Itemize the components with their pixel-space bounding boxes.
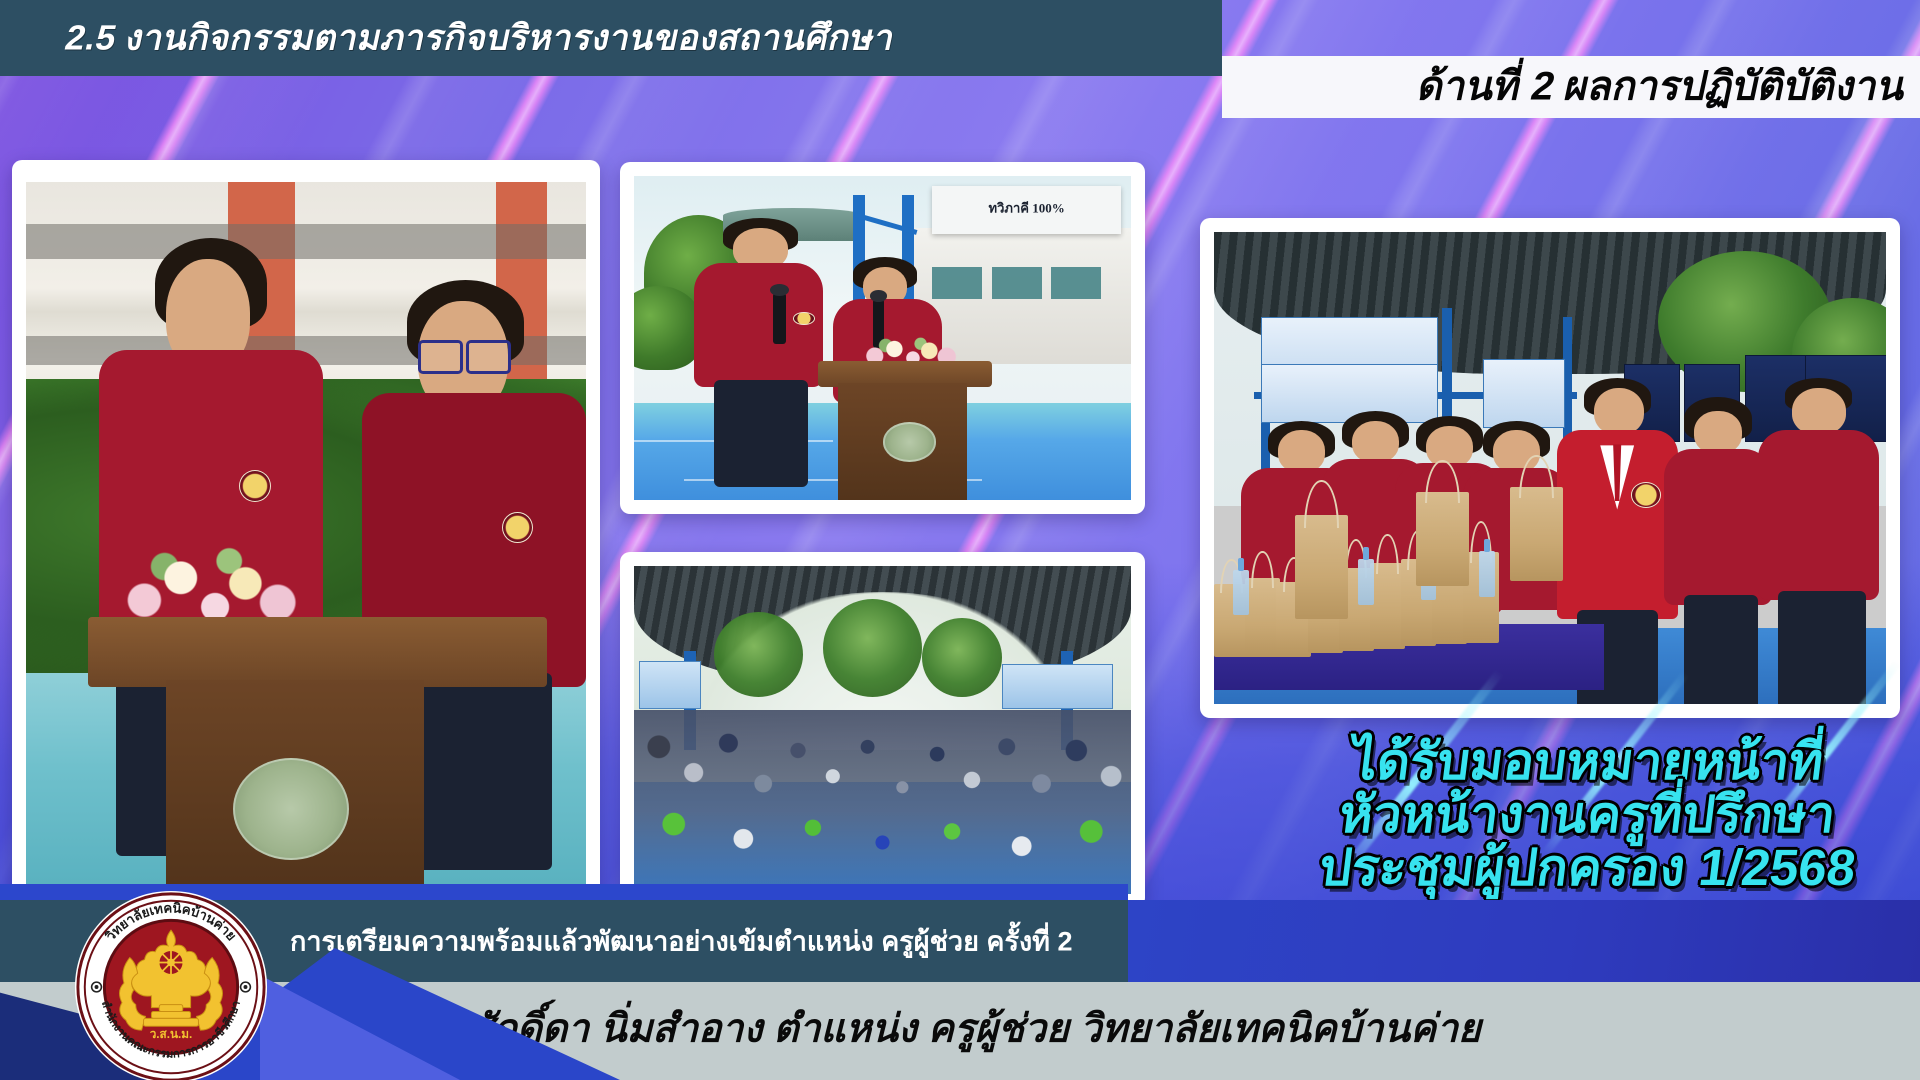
photo-mid-top-image: ทวิภาคี 100% <box>634 176 1131 500</box>
caption-line-2: หัวหน้างานครูที่ปรึกษา <box>1252 788 1920 841</box>
caption-line-3: ประชุมผู้ปกครอง 1/2568 <box>1252 841 1920 894</box>
photo-card-right[interactable] <box>1200 218 1900 718</box>
header-right-bar: ด้านที่ 2 ผลการปฏิบัติบัติงาน <box>1222 56 1920 118</box>
photo-card-mid-top[interactable]: ทวิภาคี 100% <box>620 162 1145 514</box>
header-left-bar: 2.5 งานกิจกรรมตามภารกิจบริหารงานของสถานศ… <box>0 0 1222 76</box>
ribbon-caption: การเตรียมความพร้อมแล้วพัฒนาอย่างเข้มตำแห… <box>290 920 1072 963</box>
photo-card-mid-bottom[interactable] <box>620 552 1145 908</box>
college-seal-emblem: วิทยาลัยเทคนิคบ้านค่าย สำนักงานคณะกรรมกา… <box>73 889 269 1080</box>
photo-left-image <box>26 182 586 884</box>
bottom-blue-band-right <box>1128 900 1920 982</box>
page-title: 2.5 งานกิจกรรมตามภารกิจบริหารงานของสถานศ… <box>60 11 900 66</box>
caption-line-1: ได้รับมอบหมายหน้าที่ <box>1252 735 1920 788</box>
photo-card-left[interactable] <box>12 160 600 898</box>
poster-root: 2.5 งานกิจกรรมตามภารกิจบริหารงานของสถานศ… <box>0 0 1920 1080</box>
emblem-center-text: ว.ส.น.ม. <box>150 1028 193 1041</box>
section-title: ด้านที่ 2 ผลการปฏิบัติบัติงาน <box>1412 54 1913 118</box>
photo-mid-bottom-image <box>634 566 1131 894</box>
photo-right-image <box>1214 232 1886 704</box>
footer-text: นายศักดิ์ดา นิ่มสำอาง ตำแหน่ง ครูผู้ช่วย… <box>392 998 1492 1060</box>
photo-banner-text: ทวิภาคี 100% <box>932 198 1121 219</box>
